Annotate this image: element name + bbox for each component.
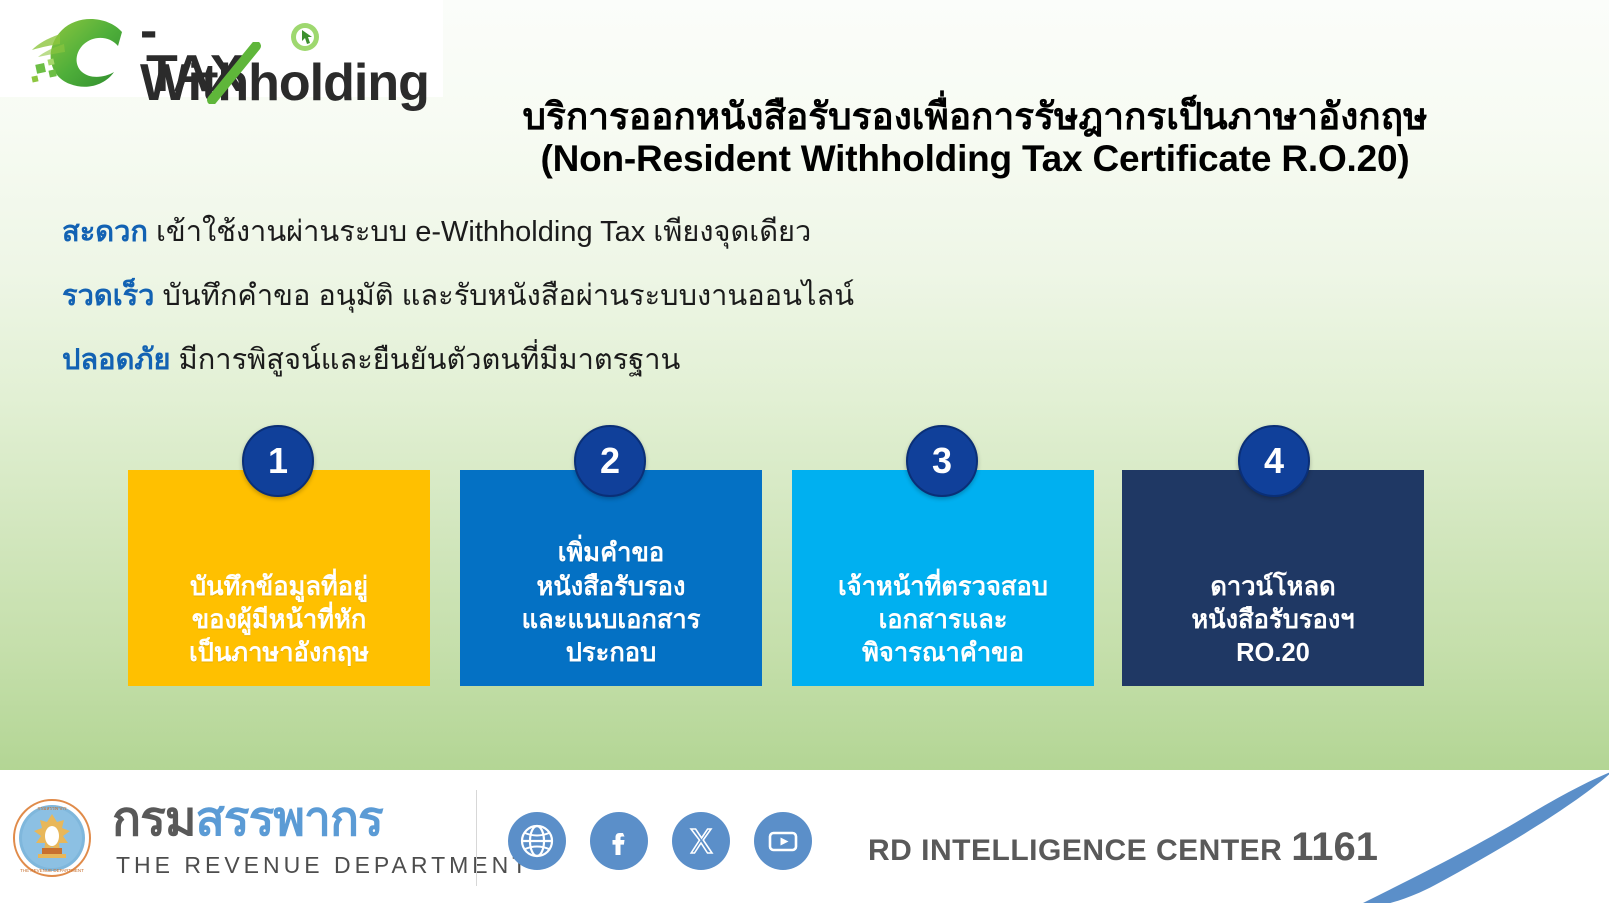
org-name-part2: สรรพากร	[195, 793, 382, 846]
revenue-department-seal-icon: กรมสรรพากร THE REVENUE DEPARTMENT	[12, 798, 92, 878]
benefit-text: บันทึกคำขอ อนุมัติ และรับหนังสือผ่านระบบ…	[154, 280, 854, 312]
step-label-4: ดาวน์โหลดหนังสือรับรองฯRO.20	[1122, 571, 1424, 670]
step-card-2: เพิ่มคำขอหนังสือรับรองและแนบเอกสารประกอบ	[460, 470, 762, 686]
svg-text:กรมสรรพากร: กรมสรรพากร	[37, 806, 67, 812]
benefit-keyword: ปลอดภัย	[62, 344, 171, 376]
svg-text:THE REVENUE DEPARTMENT: THE REVENUE DEPARTMENT	[20, 868, 84, 873]
organization-name-thai: กรมสรรพากร	[112, 796, 383, 844]
org-name-part1: กรม	[112, 793, 195, 846]
step-number-badge-3: 3	[906, 425, 978, 497]
youtube-icon[interactable]	[754, 812, 812, 870]
step-card-1: บันทึกข้อมูลที่อยู่ของผู้มีหน้าที่หักเป็…	[128, 470, 430, 686]
title-english: (Non-Resident Withholding Tax Certificat…	[360, 138, 1590, 180]
step-number-badge-4: 4	[1238, 425, 1310, 497]
step-number-badge-1: 1	[242, 425, 314, 497]
green-e-swoosh-icon	[30, 14, 150, 92]
process-steps: บันทึกข้อมูลที่อยู่ของผู้มีหน้าที่หักเป็…	[0, 425, 1609, 695]
benefit-keyword: รวดเร็ว	[62, 280, 154, 312]
social-links	[508, 812, 812, 870]
benefit-line-secure: ปลอดภัย มีการพิสูจน์และยืนยันตัวตนที่มีม…	[62, 346, 1262, 375]
facebook-icon[interactable]	[590, 812, 648, 870]
step-card-3: เจ้าหน้าที่ตรวจสอบเอกสารและพิจารณาคำขอ	[792, 470, 1094, 686]
step-number-badge-2: 2	[574, 425, 646, 497]
globe-icon[interactable]	[508, 812, 566, 870]
x-twitter-icon[interactable]	[672, 812, 730, 870]
ewithholding-tax-logo: -Withholding TAX	[0, 0, 443, 97]
benefit-text: มีการพิสูจน์และยืนยันตัวตนที่มีมาตรฐาน	[171, 344, 681, 376]
benefits-list: สะดวก เข้าใช้งานผ่านระบบ e-Withholding T…	[62, 218, 1262, 410]
blue-swoosh-decoration	[1325, 770, 1609, 903]
organization-name-english: THE REVENUE DEPARTMENT	[116, 852, 530, 879]
benefit-keyword: สะดวก	[62, 216, 148, 248]
step-label-1: บันทึกข้อมูลที่อยู่ของผู้มีหน้าที่หักเป็…	[128, 571, 430, 670]
rd-center-label: RD INTELLIGENCE CENTER	[868, 834, 1282, 867]
green-x-stroke-icon	[206, 42, 268, 104]
benefit-line-convenient: สะดวก เข้าใช้งานผ่านระบบ e-Withholding T…	[62, 218, 1262, 247]
step-label-3: เจ้าหน้าที่ตรวจสอบเอกสารและพิจารณาคำขอ	[792, 571, 1094, 670]
step-label-2: เพิ่มคำขอหนังสือรับรองและแนบเอกสารประกอบ	[460, 537, 762, 670]
title-thai: บริการออกหนังสือรับรองเพื่อการรัษฎากรเป็…	[360, 96, 1590, 138]
benefit-line-fast: รวดเร็ว บันทึกคำขอ อนุมัติ และรับหนังสือ…	[62, 282, 1262, 311]
rd-intelligence-center: RD INTELLIGENCE CENTER 1161	[868, 825, 1378, 870]
poster-canvas: -Withholding TAX บริการออกหนังสือรับรองเ…	[0, 0, 1609, 903]
step-card-4: ดาวน์โหลดหนังสือรับรองฯRO.20	[1122, 470, 1424, 686]
cursor-touch-icon	[290, 22, 320, 52]
page-title: บริการออกหนังสือรับรองเพื่อการรัษฎากรเป็…	[360, 96, 1590, 180]
footer-divider	[476, 790, 477, 886]
footer-bar: กรมสรรพากร THE REVENUE DEPARTMENT กรมสรร…	[0, 770, 1609, 903]
benefit-text: เข้าใช้งานผ่านระบบ e-Withholding Tax เพี…	[148, 216, 811, 248]
